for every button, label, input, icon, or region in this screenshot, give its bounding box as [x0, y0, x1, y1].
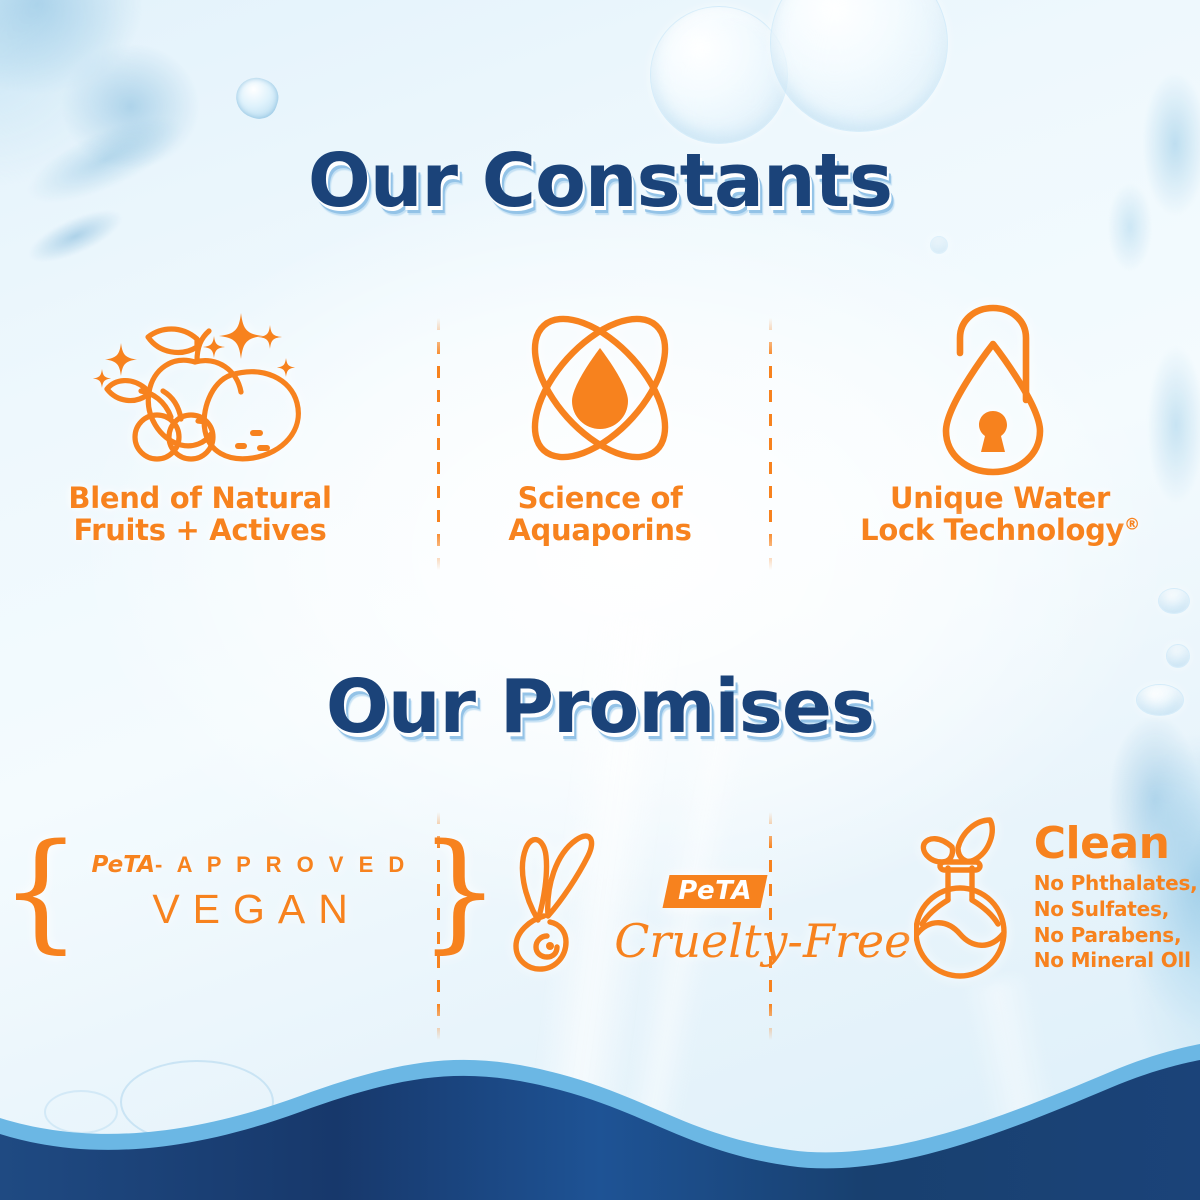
clean-title: Clean [1034, 822, 1170, 866]
promises-items-row: { PeTA- A P P R O V E D VEGAN } [0, 800, 1200, 1040]
clean-claim: No Mineral Oll [1034, 948, 1191, 972]
promise-item-peta-cruelty-free: PeTA Cruelty-Free [500, 800, 911, 1040]
label-line-1: Unique Water [890, 481, 1110, 515]
constant-item-blend-of-natural-fruits: Blend of Natural Fruits + Actives [0, 300, 400, 570]
section-divider-constants-2 [769, 318, 772, 570]
peta-approved-line: PeTA- A P P R O V E D [91, 852, 408, 878]
label-line-2: Aquaporins [508, 513, 691, 547]
label-line-2: Fruits + Actives [74, 513, 327, 547]
label-line-1: Blend of Natural [68, 481, 331, 515]
peta-wordmark: PeTA [91, 852, 155, 878]
infographic-canvas: Our Constants [0, 0, 1200, 1200]
bubble-icon [770, 0, 948, 132]
constant-label-unique-water-lock-technology: Unique Water Lock Technology® [860, 482, 1140, 547]
peta-bunny-cruelty-free-logo: PeTA Cruelty-Free [500, 824, 911, 974]
bunny-icon [500, 824, 620, 974]
bottom-water-wave [0, 1010, 1200, 1200]
constant-item-science-of-aquaporins: Science of Aquaporins [400, 300, 800, 570]
atom-water-drop-icon [508, 300, 693, 480]
section-divider-constants-1 [437, 318, 440, 570]
promise-item-peta-approved-vegan: { PeTA- A P P R O V E D VEGAN } [0, 800, 500, 1040]
bubble-icon [930, 236, 948, 254]
bubble-icon [650, 6, 788, 144]
section-heading-constants: Our Constants [0, 138, 1200, 224]
bubble-icon [1158, 588, 1190, 614]
brace-right-icon: } [419, 844, 500, 940]
cruelty-free-wordmark: Cruelty-Free [614, 914, 911, 968]
water-splash-top-left [0, 0, 290, 270]
promise-item-clean: Clean No Phthalates, No Sulfates, No Par… [911, 800, 1200, 1040]
water-drop-padlock-icon [920, 300, 1080, 480]
brace-left-icon: { [0, 844, 81, 940]
clean-claim: No Parabens, [1034, 923, 1182, 947]
registered-trademark-symbol: ® [1124, 515, 1140, 534]
clean-badge: Clean No Phthalates, No Sulfates, No Par… [914, 814, 1198, 982]
constant-item-unique-water-lock-technology: Unique Water Lock Technology® [800, 300, 1200, 570]
section-divider-promises-1 [437, 812, 440, 1040]
peta-approved-vegan-badge: { PeTA- A P P R O V E D VEGAN } [0, 844, 500, 940]
vegan-wordmark: VEGAN [139, 886, 361, 933]
label-line-2: Lock Technology [860, 513, 1124, 547]
section-heading-promises: Our Promises [0, 664, 1200, 750]
fruits-sparkle-icon [85, 300, 315, 480]
constants-items-row: Blend of Natural Fruits + Actives Scienc… [0, 300, 1200, 570]
peta-logo-box: PeTA [663, 875, 768, 908]
clean-claims-list: No Phthalates, No Sulfates, No Parabens,… [1034, 871, 1198, 973]
section-divider-promises-2 [769, 812, 772, 1040]
clean-claim: No Sulfates, [1034, 897, 1169, 921]
constant-label-blend-of-natural-fruits: Blend of Natural Fruits + Actives [68, 482, 331, 547]
clean-flask-leaf-icon [914, 814, 1018, 982]
label-line-1: Science of [518, 481, 683, 515]
approved-text: - A P P R O V E D [155, 852, 409, 877]
constant-label-science-of-aquaporins: Science of Aquaporins [508, 482, 691, 547]
clean-claim: No Phthalates, [1034, 871, 1198, 895]
water-droplet-icon [231, 72, 283, 123]
